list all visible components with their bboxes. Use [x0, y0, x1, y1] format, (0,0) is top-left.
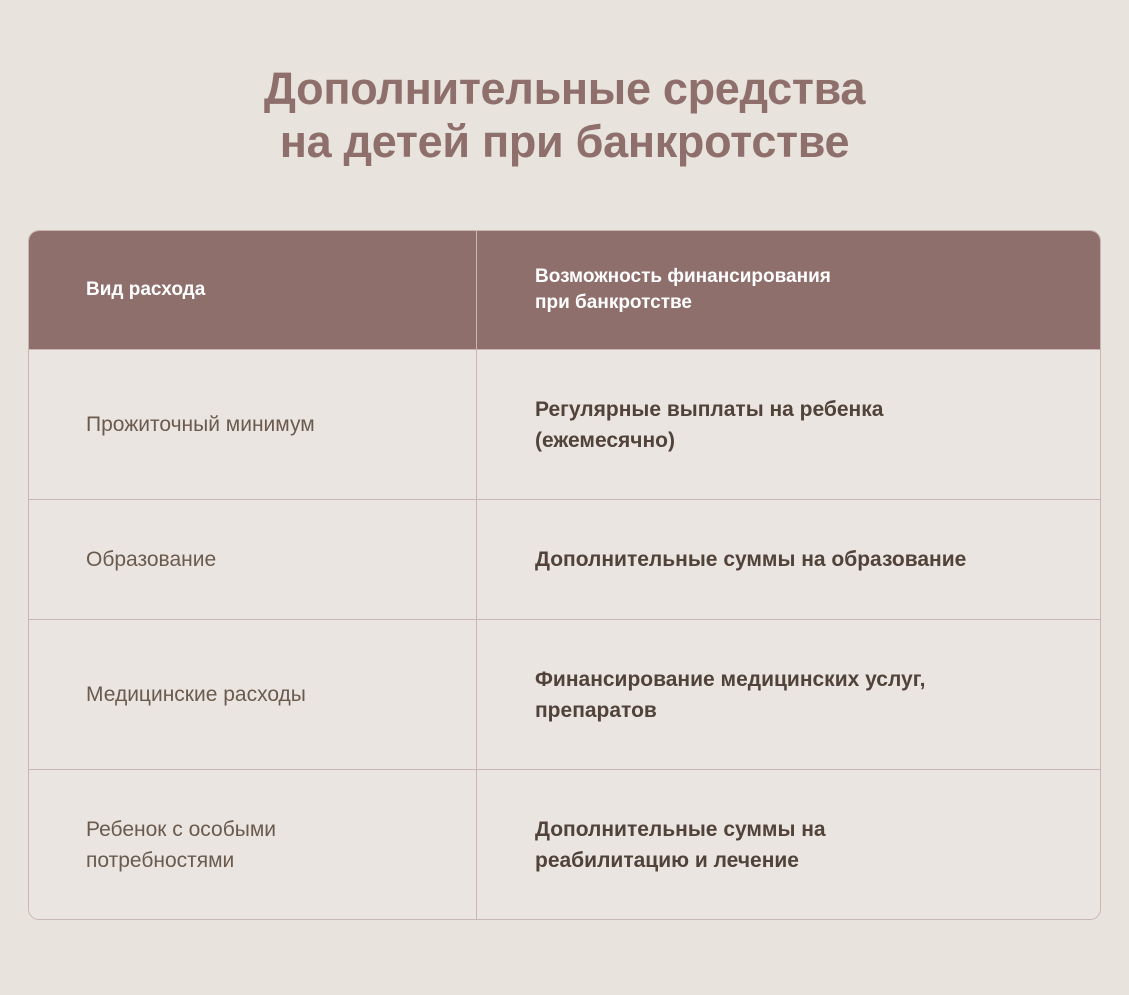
table-cell-expense-type: Ребенок с особыми потребностями [29, 770, 476, 920]
table-header-cell-funding: Возможность финансирования при банкротст… [476, 231, 1100, 349]
table-cell-expense-type: Прожиточный минимум [29, 350, 476, 499]
page-title: Дополнительные средства на детей при бан… [0, 62, 1129, 168]
page-title-line-1: Дополнительные средства [0, 62, 1129, 115]
funding-value: Финансирование медицинских услуг, препар… [535, 664, 925, 726]
funding-value: Регулярные выплаты на ребенка (ежемесячн… [535, 394, 883, 456]
table-cell-funding: Регулярные выплаты на ребенка (ежемесячн… [476, 350, 1100, 499]
expense-type-value: Прожиточный минимум [86, 409, 315, 440]
expense-type-value: Образование [86, 544, 216, 575]
table-row: Медицинские расходы Финансирование медиц… [29, 619, 1100, 769]
funding-value: Дополнительные суммы на образование [535, 544, 966, 575]
funding-value: Дополнительные суммы на реабилитацию и л… [535, 814, 826, 876]
expense-type-value: Ребенок с особыми потребностями [86, 814, 276, 876]
table-header-label-funding: Возможность финансирования при банкротст… [535, 264, 831, 316]
expense-type-value: Медицинские расходы [86, 679, 306, 710]
page-title-line-2: на детей при банкротстве [0, 115, 1129, 168]
table-row: Образование Дополнительные суммы на обра… [29, 499, 1100, 619]
infographic-page: Дополнительные средства на детей при бан… [0, 0, 1129, 995]
table-cell-funding: Финансирование медицинских услуг, препар… [476, 620, 1100, 769]
table-row: Ребенок с особыми потребностями Дополнит… [29, 769, 1100, 920]
table-cell-expense-type: Образование [29, 500, 476, 619]
table-cell-expense-type: Медицинские расходы [29, 620, 476, 769]
table-cell-funding: Дополнительные суммы на реабилитацию и л… [476, 770, 1100, 920]
table-cell-funding: Дополнительные суммы на образование [476, 500, 1100, 619]
table-header-row: Вид расхода Возможность финансирования п… [29, 231, 1100, 349]
expenses-table: Вид расхода Возможность финансирования п… [28, 230, 1101, 920]
table-header-cell-expense-type: Вид расхода [29, 231, 476, 349]
table-row: Прожиточный минимум Регулярные выплаты н… [29, 349, 1100, 499]
table-header-label-expense-type: Вид расхода [86, 277, 205, 303]
